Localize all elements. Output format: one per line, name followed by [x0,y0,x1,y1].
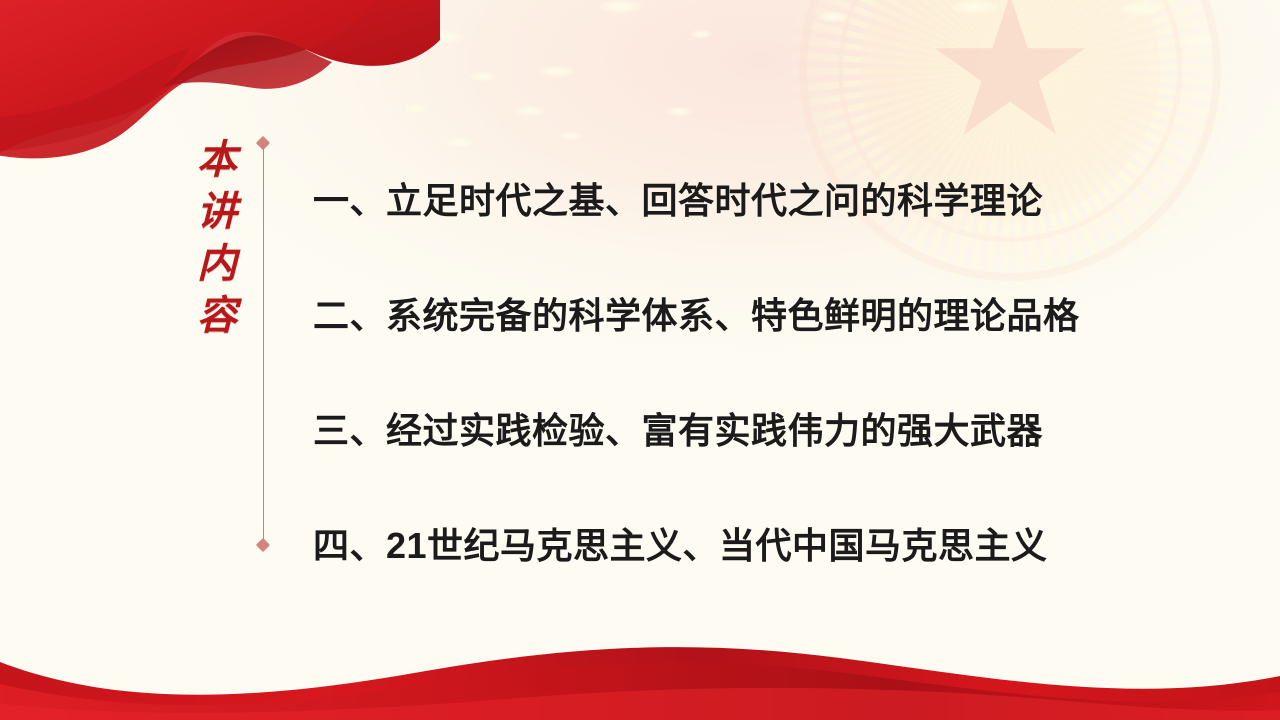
vertical-divider [262,138,264,550]
outline-list: 一、立足时代之基、回答时代之问的科学理论 二、系统完备的科学体系、特色鲜明的理论… [313,140,1213,600]
outline-item-2[interactable]: 二、系统完备的科学体系、特色鲜明的理论品格 [313,255,1213,370]
outline-item-1[interactable]: 一、立足时代之基、回答时代之问的科学理论 [313,140,1213,255]
divider-line [263,145,264,543]
slide-canvas: 本 讲 内 容 一、立足时代之基、回答时代之问的科学理论 二、系统完备的科学体系… [0,0,1280,720]
slide-content: 本 讲 内 容 一、立足时代之基、回答时代之问的科学理论 二、系统完备的科学体系… [0,0,1280,720]
outline-item-4[interactable]: 四、21世纪马克思主义、当代中国马克思主义 [313,485,1213,600]
vertical-section-title: 本 讲 内 容 [192,134,244,342]
outline-item-3[interactable]: 三、经过实践检验、富有实践伟力的强大武器 [313,370,1213,485]
diamond-bottom-icon [256,538,270,552]
